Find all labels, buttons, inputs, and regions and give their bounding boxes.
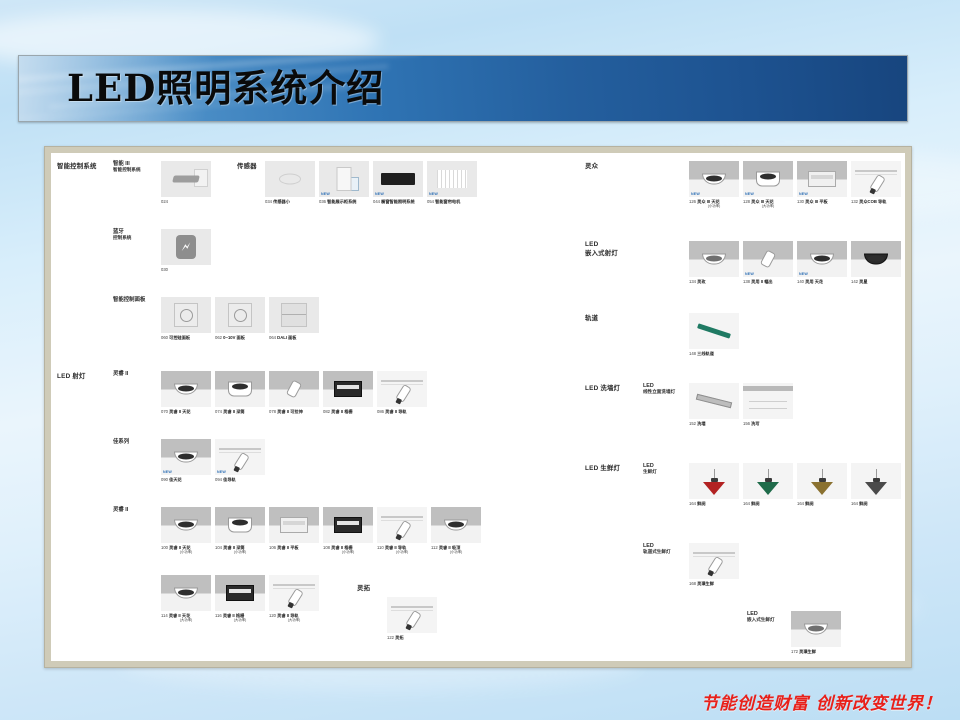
product-item[interactable]: 120 灵睿 II 导轨(大功率) [269,575,319,622]
section-title: 智能控制系统 [57,161,97,170]
product-item[interactable]: 106 灵睿 II 平板 [269,507,319,554]
product-thumbnail [689,383,739,419]
product-caption: 164 鲜阅 [797,501,847,506]
product-item[interactable]: 100 灵睿 II 天花(小功率) [161,507,211,554]
section-title: 传感器 [237,161,257,170]
product-thumbnail [161,507,211,543]
new-badge: NEW [429,192,438,196]
catalog-sheet: 智能控制系统智能 III智能控制系统024 蓝牙控制系统030 智能控制面板06… [51,153,905,661]
product-thumbnail [743,463,793,499]
product-thumbnail [161,297,211,333]
group-subtitle: 智能 III智能控制系统 [113,161,141,173]
product-thumbnail [161,229,211,265]
product-caption: 086 灵睿 II 导轨 [377,409,427,414]
product-thumbnail [377,371,427,407]
product-item[interactable]: 070 灵睿 II 天花 [161,371,211,414]
product-item[interactable]: 108 灵睿 II 格栅(小功率) [323,507,373,554]
product-caption: 024 [161,199,211,204]
product-caption: 168 灵璜生鲜 [689,581,739,586]
lamp-illustration [228,303,252,327]
product-item[interactable]: 082 灵睿 II 格栅 [323,371,373,414]
product-caption: 164 鲜阅 [689,501,739,506]
section-title: LED嵌入式射灯 [585,241,618,257]
product-item[interactable]: 110 灵睿 II 导轨(小功率) [377,507,427,554]
product-caption: 140 灵用 天花 [797,279,847,284]
product-row: 122 灵拓 [387,597,441,640]
product-row: 164 鲜阅164 鲜阅164 鲜阅164 鲜阅 [689,463,905,506]
product-item[interactable]: NEW090 佳天花 [161,439,211,482]
new-badge: NEW [163,470,172,474]
product-caption: 036 智能展示柜系统 [319,199,369,204]
product-caption: 054 智能窗帘电机 [427,199,477,204]
section-title: LED 生鲜灯 [585,463,620,472]
product-row: 148 三线轨道 [689,313,743,356]
product-row: NEW090 佳天花NEW094 佳导轨 [161,439,269,482]
section-title: LED 洗墙灯 [585,383,620,392]
product-thumbnail [689,463,739,499]
product-thumbnail [689,543,739,579]
product-thumbnail [215,297,265,333]
product-item[interactable]: NEW044 橱窗智能照明系统 [373,161,423,204]
lamp-illustration [334,381,362,397]
section-title: 灵拓 [357,583,370,592]
new-badge: NEW [745,192,754,196]
new-badge: NEW [799,192,808,196]
product-caption: 090 佳天花 [161,477,211,482]
new-badge: NEW [321,192,330,196]
group-subtitle: 灵睿 II [113,507,128,513]
product-row: 034 传感器小NEW036 智能展示柜系统NEW044 橱窗智能照明系统NEW… [265,161,481,204]
group-subtitle: 智能控制面板 [113,297,145,303]
lamp-illustration [281,303,307,327]
product-row: 024 [161,161,215,204]
product-caption: 164 鲜阅 [743,501,793,506]
product-caption: 152 洗墙 [689,421,739,426]
lamp-illustration [226,585,254,601]
product-thumbnail [851,463,901,499]
product-item[interactable]: 122 灵拓 [387,597,437,640]
product-thumbnail [161,575,211,611]
product-caption: 062 0~10V 面板 [215,335,265,340]
product-item[interactable]: NEW094 佳导轨 [215,439,265,482]
lamp-illustration [174,303,198,327]
product-thumbnail [269,575,319,611]
product-thumbnail [689,241,739,277]
product-thumbnail: NEW [689,161,739,197]
product-item[interactable]: 030 [161,229,211,272]
lamp-illustration [174,384,198,395]
lamp-illustration [763,251,773,267]
product-item[interactable]: 164 鲜阅 [851,463,901,506]
product-item[interactable]: 164 鲜阅 [743,463,793,506]
lamp-illustration [808,171,836,187]
product-thumbnail: NEW [797,241,847,277]
group-subtitle: 灵睿 II [113,371,128,377]
slogan-text: 节能创造财富 创新改变世界！ [701,689,942,714]
product-row: 168 灵璜生鲜 [689,543,743,586]
product-thumbnail [161,161,211,197]
product-caption-sub: (小功率) [161,550,211,554]
lamp-illustration [381,173,415,185]
product-item[interactable]: 116 灵睿 II 格栅(大功率) [215,575,265,622]
product-item[interactable]: 132 灵众COB 导轨 [851,161,901,208]
product-caption: 030 [161,267,211,272]
lamp-illustration [174,588,198,599]
product-caption-sub: (小功率) [323,550,373,554]
product-caption-sub: (大功率) [743,204,793,208]
product-caption-sub: (小功率) [689,204,739,208]
lamp-illustration [756,172,780,187]
product-item[interactable]: 060 可控硅面板 [161,297,211,340]
product-thumbnail: NEW [319,161,369,197]
product-caption: 132 灵众COB 导轨 [851,199,901,204]
new-badge: NEW [745,272,754,276]
product-item[interactable]: 164 鲜阅 [797,463,847,506]
product-caption: 164 鲜阅 [851,501,901,506]
new-badge: NEW [375,192,384,196]
product-caption-sub: (大功率) [161,618,211,622]
product-item[interactable]: NEW126 灵众 III 天花(小功率) [689,161,739,208]
product-thumbnail [431,507,481,543]
title-banner: LED照明系统介绍 [18,55,908,122]
product-thumbnail [797,463,847,499]
product-thumbnail: NEW [215,439,265,475]
product-caption-sub: (小功率) [377,550,427,554]
product-thumbnail [791,611,841,647]
product-item[interactable]: NEW130 灵众 III 平板 [797,161,847,208]
product-thumbnail [689,313,739,349]
product-thumbnail [377,507,427,543]
product-thumbnail [269,297,319,333]
product-caption: 044 橱窗智能照明系统 [373,199,423,204]
lamp-illustration [334,517,362,533]
product-thumbnail [323,371,373,407]
product-caption: 064 DALI 面板 [269,335,319,340]
product-caption: 034 传感器小 [265,199,315,204]
product-item[interactable]: 064 DALI 面板 [269,297,319,340]
product-item[interactable]: NEW054 智能窗帘电机 [427,161,477,204]
page-title: LED照明系统介绍 [19,56,907,121]
group-subtitle: LED嵌入式生鲜灯 [747,611,775,623]
product-thumbnail [215,507,265,543]
lamp-illustration [337,167,352,191]
lamp-illustration [289,381,299,397]
product-caption: 142 灵星 [851,279,901,284]
lamp-illustration [804,624,828,635]
group-subtitle: 蓝牙控制系统 [113,229,131,241]
product-row: 070 灵睿 II 天花074 灵睿 II 深筒078 灵睿 II 可拉伸082… [161,371,431,414]
section-title: 轨道 [585,313,598,322]
product-item[interactable]: 152 洗墙 [689,383,739,426]
catalog-frame: 智能控制系统智能 III智能控制系统024 蓝牙控制系统030 智能控制面板06… [44,146,912,668]
product-thumbnail: NEW [373,161,423,197]
group-subtitle: LED线性立面洗墙灯 [643,383,675,395]
new-badge: NEW [799,272,808,276]
product-caption: 070 灵睿 II 天花 [161,409,211,414]
product-caption: 130 灵众 III 平板 [797,199,847,204]
product-item[interactable]: 112 灵睿 II 吸顶(小功率) [431,507,481,554]
product-caption: 138 灵用 II 幅出 [743,279,793,284]
product-thumbnail: NEW [743,241,793,277]
product-row: 030 [161,229,215,272]
product-caption: 148 三线轨道 [689,351,739,356]
product-item[interactable]: NEW128 灵众 III 天花(大功率) [743,161,793,208]
group-subtitle: LED生鲜灯 [643,463,657,475]
product-item[interactable]: 024 [161,161,211,204]
lamp-illustration [697,329,731,334]
product-thumbnail: NEW [743,161,793,197]
lamp-illustration [228,382,252,397]
product-item[interactable]: 074 灵睿 II 深筒 [215,371,265,414]
product-caption-sub: (大功率) [269,618,319,622]
product-thumbnail [215,575,265,611]
lamp-illustration [279,174,301,185]
product-thumbnail [269,507,319,543]
product-item[interactable]: 148 三线轨道 [689,313,739,356]
product-thumbnail: NEW [427,161,477,197]
product-item[interactable]: 172 灵璜生鲜 [791,611,841,654]
lamp-illustration [444,520,468,531]
product-thumbnail: NEW [161,439,211,475]
product-caption: 172 灵璜生鲜 [791,649,841,654]
lamp-illustration [174,520,198,531]
product-row: 152 洗墙156 洗写 [689,383,797,426]
product-caption: 134 灵玫 [689,279,739,284]
lamp-illustration [696,398,732,404]
group-subtitle: 佳系列 [113,439,129,445]
product-caption: 082 灵睿 II 格栅 [323,409,373,414]
new-badge: NEW [691,192,700,196]
lamp-illustration [176,235,196,259]
product-thumbnail [265,161,315,197]
product-caption: 156 洗写 [743,421,793,426]
product-item[interactable]: NEW036 智能展示柜系统 [319,161,369,204]
lamp-illustration [702,174,726,185]
product-thumbnail: NEW [797,161,847,197]
lamp-illustration [810,254,834,265]
product-caption: 094 佳导轨 [215,477,265,482]
product-thumbnail [161,371,211,407]
lamp-illustration [864,254,888,265]
product-thumbnail [851,161,901,197]
lamp-illustration [173,176,199,183]
product-item[interactable]: 168 灵璜生鲜 [689,543,739,586]
product-thumbnail [269,371,319,407]
product-item[interactable]: 104 灵睿 II 深筒(小功率) [215,507,265,554]
product-caption: 122 灵拓 [387,635,437,640]
product-row: 100 灵睿 II 天花(小功率)104 灵睿 II 深筒(小功率)106 灵睿… [161,507,485,554]
lamp-illustration [702,254,726,265]
product-item[interactable]: 164 鲜阅 [689,463,739,506]
product-item[interactable]: 156 洗写 [743,383,793,426]
product-row: 060 可控硅面板062 0~10V 面板064 DALI 面板 [161,297,323,340]
product-caption-sub: (大功率) [215,618,265,622]
section-title: LED 射灯 [57,371,86,380]
product-thumbnail [851,241,901,277]
product-item[interactable]: 062 0~10V 面板 [215,297,265,340]
lamp-illustration [437,170,467,188]
product-row: 134 灵玫NEW138 灵用 II 幅出NEW140 灵用 天花142 灵星 [689,241,905,284]
product-caption-sub: (小功率) [215,550,265,554]
product-caption: 106 灵睿 II 平板 [269,545,319,550]
product-thumbnail [743,383,793,419]
product-row: NEW126 灵众 III 天花(小功率)NEW128 灵众 III 天花(大功… [689,161,905,208]
product-row: 114 灵睿 II 天花(大功率)116 灵睿 II 格栅(大功率)120 灵睿… [161,575,323,622]
product-item[interactable]: 034 传感器小 [265,161,315,204]
lamp-illustration [280,517,308,533]
product-item[interactable]: 134 灵玫 [689,241,739,284]
product-thumbnail [387,597,437,633]
new-badge: NEW [217,470,226,474]
product-thumbnail [215,371,265,407]
product-item[interactable]: 114 灵睿 II 天花(大功率) [161,575,211,622]
product-caption: 060 可控硅面板 [161,335,211,340]
group-subtitle: LED轨道式生鲜灯 [643,543,671,555]
product-row: 172 灵璜生鲜 [791,611,845,654]
product-item[interactable]: 142 灵星 [851,241,901,284]
product-caption: 078 灵睿 II 可拉伸 [269,409,319,414]
product-caption: 074 灵睿 II 深筒 [215,409,265,414]
lamp-illustration [228,518,252,533]
product-caption-sub: (小功率) [431,550,481,554]
product-item[interactable]: 086 灵睿 II 导轨 [377,371,427,414]
section-title: 灵众 [585,161,598,170]
lamp-illustration [174,452,198,463]
product-thumbnail [323,507,373,543]
product-item[interactable]: NEW140 灵用 天花 [797,241,847,284]
product-item[interactable]: 078 灵睿 II 可拉伸 [269,371,319,414]
product-item[interactable]: NEW138 灵用 II 幅出 [743,241,793,284]
